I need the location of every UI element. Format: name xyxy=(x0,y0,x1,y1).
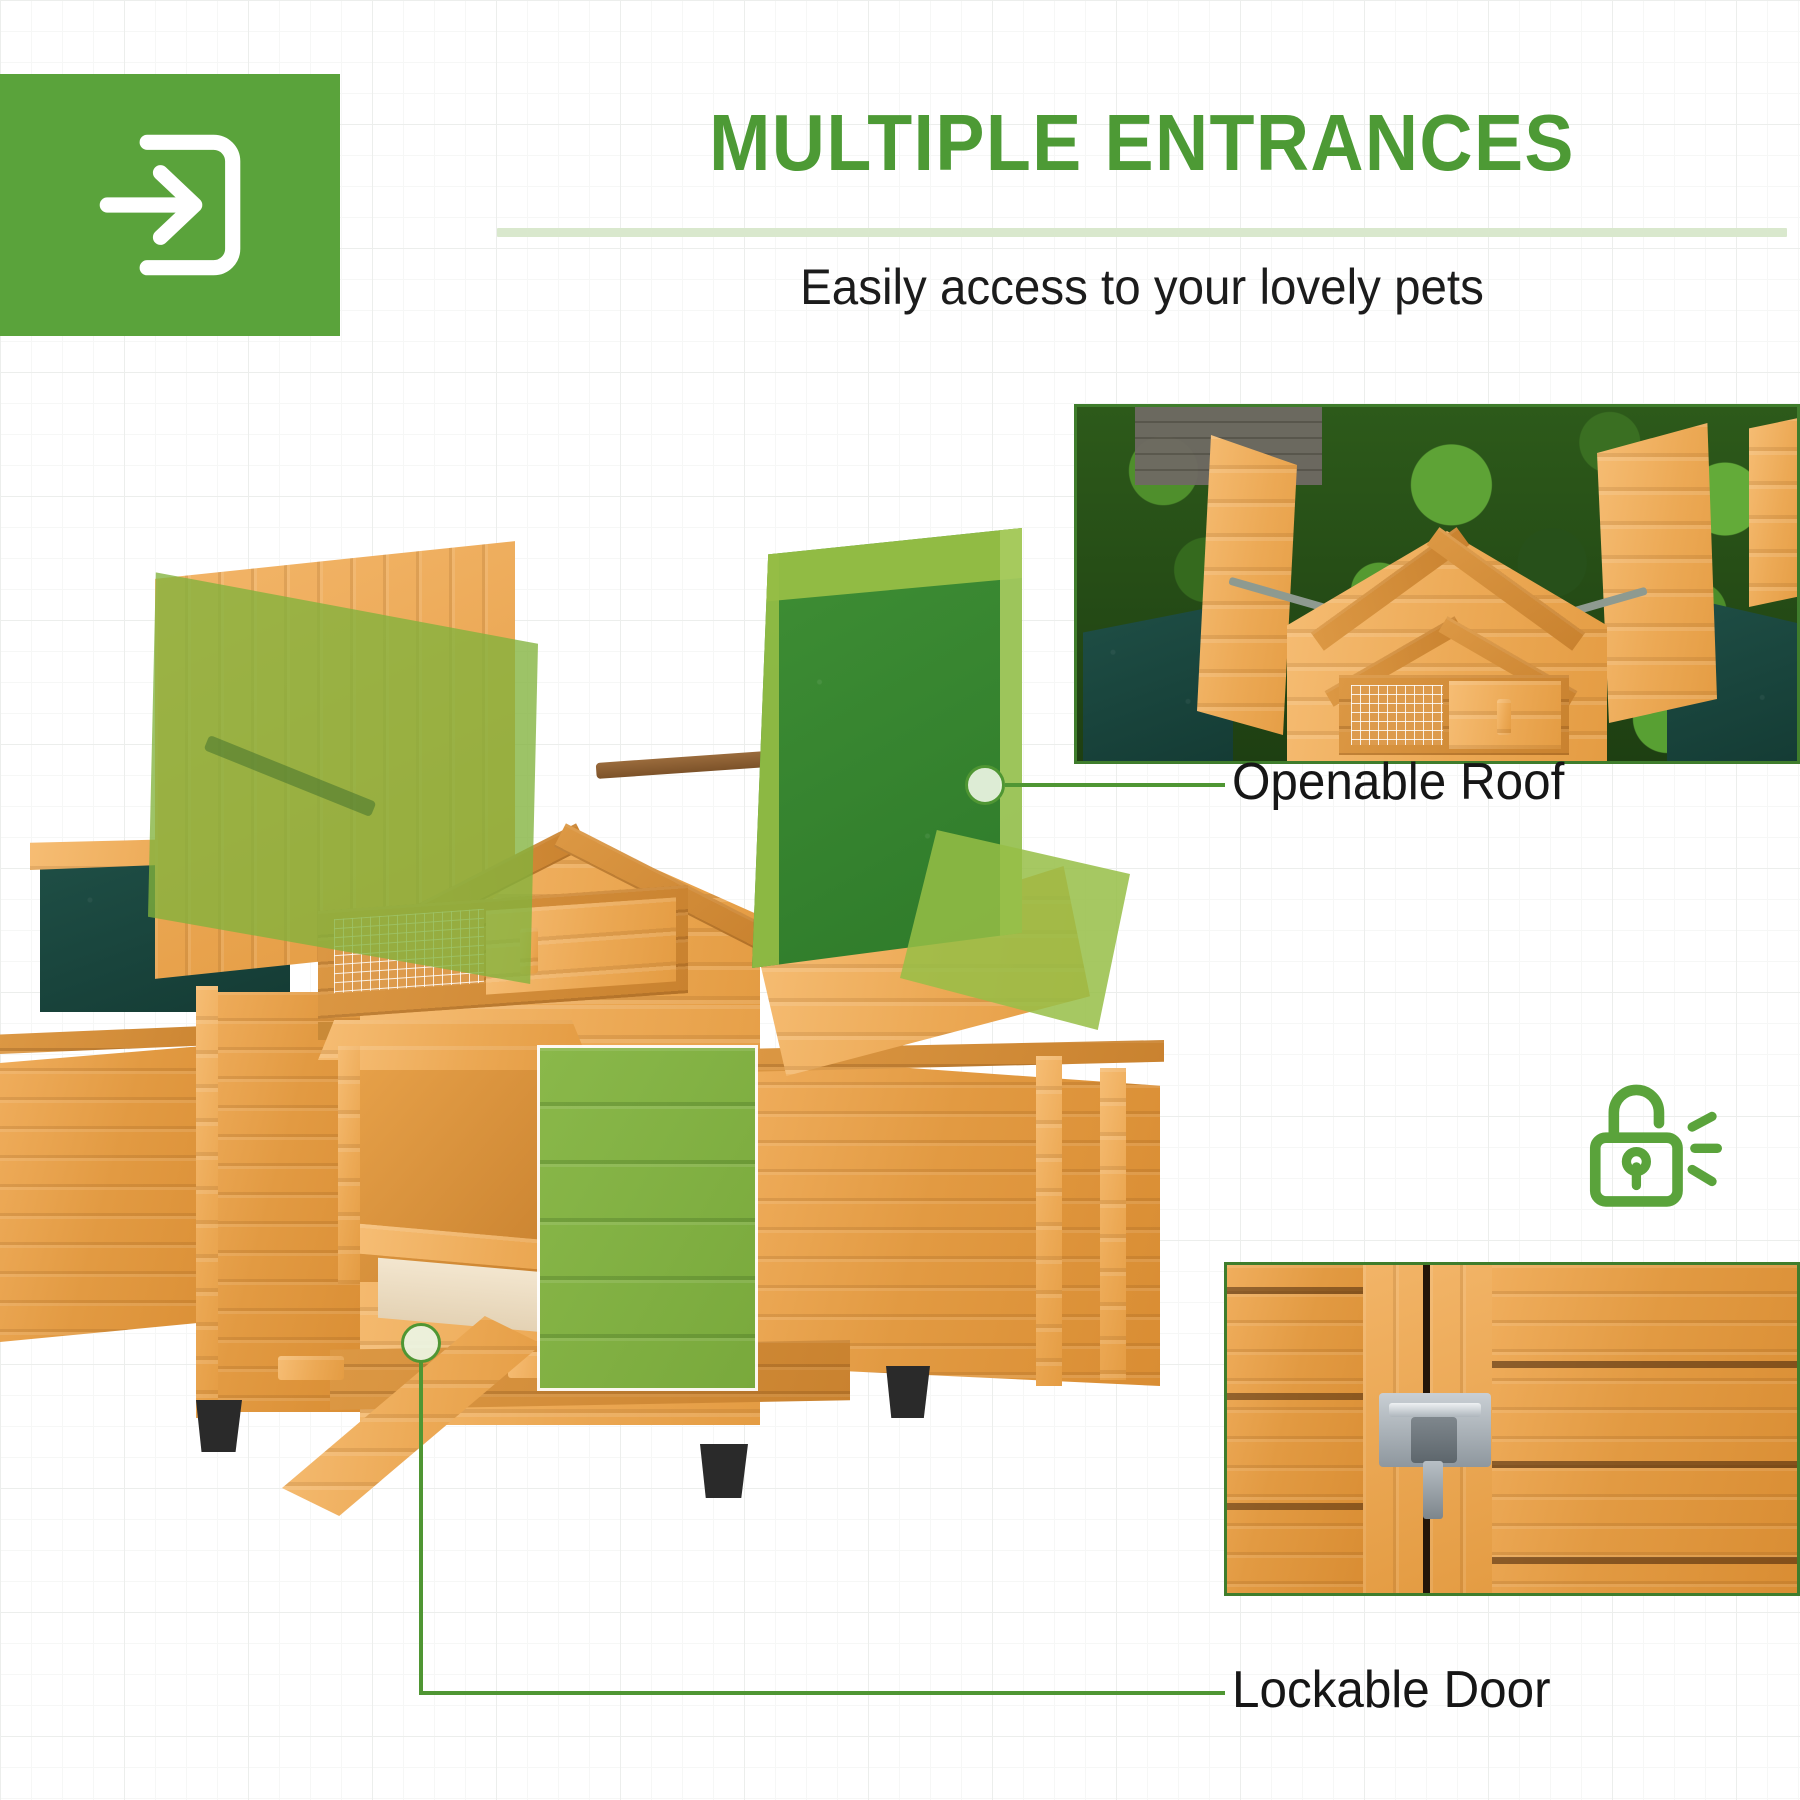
callout-dot-lockable-door xyxy=(401,1323,441,1363)
page-subtitle: Easily access to your lovely pets xyxy=(529,256,1755,319)
feature-icon-badge xyxy=(0,74,340,336)
enter-arrow-icon xyxy=(75,110,265,300)
callout-line-openable-roof xyxy=(1005,783,1225,787)
caption-openable-roof: Openable Roof xyxy=(1232,752,1564,812)
caption-lockable-door: Lockable Door xyxy=(1232,1660,1551,1720)
highlight-front-door xyxy=(540,1048,755,1388)
lockable-door-photo xyxy=(1224,1262,1800,1596)
callout-dot-openable-roof xyxy=(965,765,1005,805)
unlock-icon xyxy=(1578,1068,1724,1223)
callout-line-lockable-door-horizontal xyxy=(419,1691,1225,1695)
openable-roof-photo xyxy=(1074,404,1800,764)
callout-line-lockable-door-vertical xyxy=(419,1361,423,1693)
main-product-image xyxy=(0,500,1240,1660)
title-divider xyxy=(497,228,1787,237)
page-title: MULTIPLE ENTRANCES xyxy=(549,103,1736,183)
